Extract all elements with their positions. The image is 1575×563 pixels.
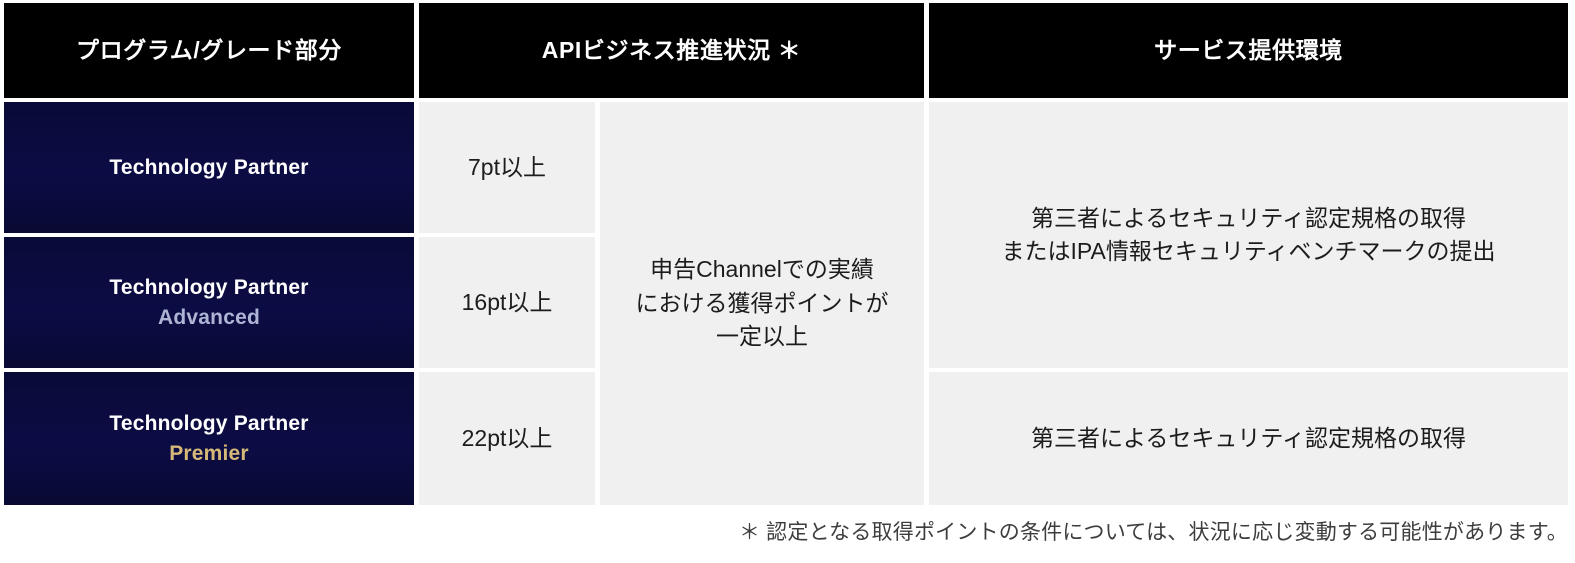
grade-cell-technology-partner: Technology Partner xyxy=(4,102,414,233)
grade-name-tier-premier: Premier xyxy=(169,440,249,468)
table-header-api-business: APIビジネス推進状況 ＊ xyxy=(419,3,924,98)
grade-cell-technology-partner-premier: Technology Partner Premier xyxy=(4,372,414,505)
service-environment-cell-top: 第三者によるセキュリティ認定規格の取得 またはIPA情報セキュリティベンチマーク… xyxy=(929,102,1568,368)
grade-name-primary: Technology Partner xyxy=(109,410,308,438)
points-cell-row-3: 22pt以上 xyxy=(419,372,595,505)
grade-name-primary: Technology Partner xyxy=(109,154,308,182)
points-cell-row-1: 7pt以上 xyxy=(419,102,595,233)
grade-name-tier-advanced: Advanced xyxy=(158,304,260,332)
points-cell-row-2: 16pt以上 xyxy=(419,237,595,368)
table-header-service-environment: サービス提供環境 xyxy=(929,3,1568,98)
grade-cell-technology-partner-advanced: Technology Partner Advanced xyxy=(4,237,414,368)
table-header-program-grade: プログラム/グレード部分 xyxy=(4,3,414,98)
api-condition-merged-cell: 申告Channelでの実績 における獲得ポイントが 一定以上 xyxy=(600,102,924,505)
service-environment-cell-bottom: 第三者によるセキュリティ認定規格の取得 xyxy=(929,372,1568,505)
partner-grade-table: プログラム/グレード部分 APIビジネス推進状況 ＊ サービス提供環境 Tech… xyxy=(0,0,1575,563)
footnote-text: ＊ 認定となる取得ポイントの条件については、状況に応じ変動する可能性があります。 xyxy=(0,516,1568,546)
grade-name-primary: Technology Partner xyxy=(109,274,308,302)
